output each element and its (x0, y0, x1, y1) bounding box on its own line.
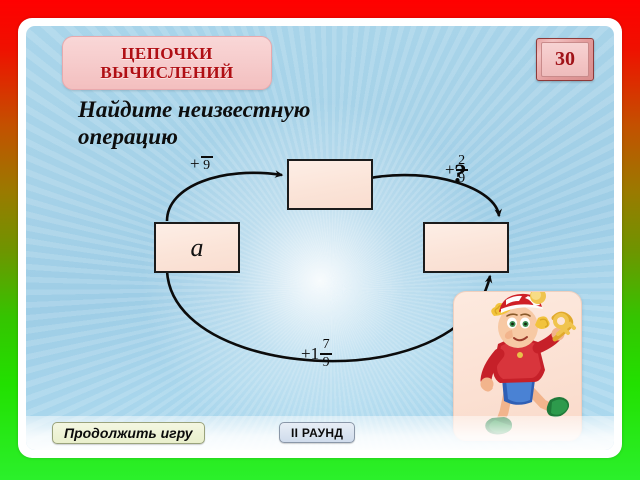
slide-stage: ЦЕПОЧКИ ВЫЧИСЛЕНИЙ 30 Найдите неизвестну… (0, 0, 640, 480)
unknown-question-mark: ? (453, 159, 466, 189)
operation-bottom-denominator: 9 (321, 356, 332, 370)
operation-bottom-fraction: 7 9 (320, 338, 332, 370)
continue-game-button[interactable]: Продолжить игру (52, 422, 205, 444)
node-box-top[interactable] (287, 159, 373, 210)
slide-canvas: ЦЕПОЧКИ ВЫЧИСЛЕНИЙ 30 Найдите неизвестну… (26, 26, 614, 450)
operation-label-bottom: +1 7 9 (301, 338, 332, 370)
node-box-right[interactable] (423, 222, 509, 273)
node-box-a-label: a (191, 233, 204, 263)
node-box-a[interactable]: a (154, 222, 240, 273)
operation-bottom-numerator: 7 (321, 338, 332, 352)
operation-left-fraction: 9 (201, 155, 213, 173)
operation-bottom-lead: +1 (301, 344, 319, 364)
round-indicator-button[interactable]: II РАУНД (279, 422, 355, 443)
footer-bar: Продолжить игру II РАУНД (26, 416, 614, 450)
operation-label-left: + 9 (190, 154, 213, 174)
operation-left-denominator: 9 (201, 159, 212, 173)
operation-left-lead: + (190, 154, 200, 174)
arrow-a-to-top (167, 173, 282, 221)
arrow-top-to-right (370, 175, 499, 216)
